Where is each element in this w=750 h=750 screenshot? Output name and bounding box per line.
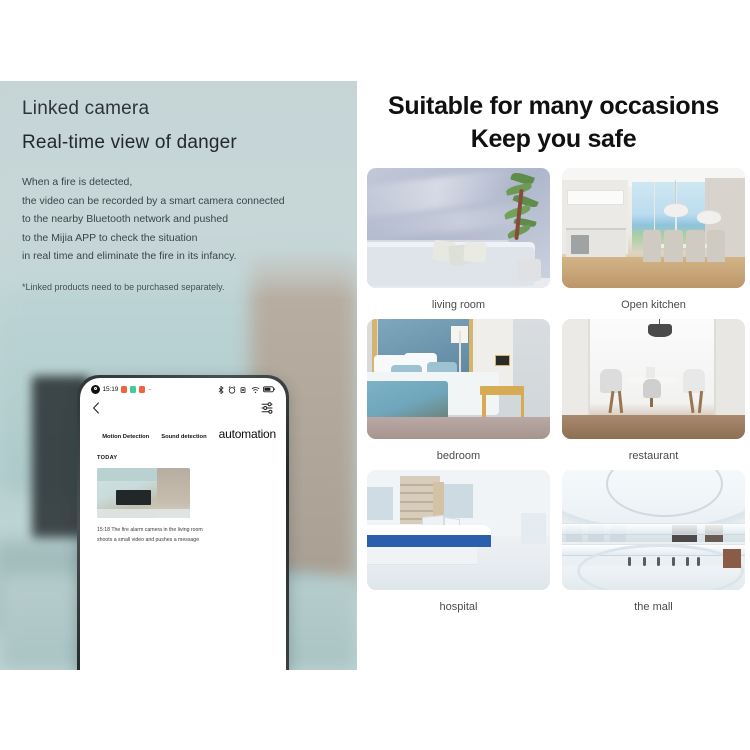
left-text-block: Linked camera Real-time view of danger W… xyxy=(0,81,357,292)
scene-image-open-kitchen xyxy=(562,168,745,288)
event-message: 15:18 The fire alarm camera in the livin… xyxy=(97,525,286,545)
phone-tabs: Motion Detection Sound detection automat… xyxy=(80,419,286,441)
left-title-line2: Real-time view of danger xyxy=(22,120,335,154)
scene-card-restaurant[interactable]: restaurant xyxy=(562,319,745,466)
body-line-4: to the Mijia APP to check the situation xyxy=(22,229,335,248)
page-root: Linked camera Real-time view of danger W… xyxy=(0,0,750,750)
scene-card-living-room[interactable]: living room xyxy=(367,168,550,315)
thumbnail-ceiling xyxy=(97,468,157,481)
status-bar-right xyxy=(218,386,275,394)
body-line-3: to the nearby Bluetooth network and push… xyxy=(22,210,335,229)
restaurant-illustration xyxy=(562,319,745,439)
app-chip-orange-icon xyxy=(139,386,146,393)
phone-nav-row xyxy=(80,394,286,419)
vibrate-icon xyxy=(239,386,247,394)
phone-status-bar: 15:19 - xyxy=(80,378,286,394)
scene-image-living-room xyxy=(367,168,550,288)
left-feature-panel: Linked camera Real-time view of danger W… xyxy=(0,81,357,670)
bedroom-illustration xyxy=(367,319,550,439)
headline-line1: Suitable for many occasions xyxy=(357,90,750,123)
thumbnail-tv xyxy=(116,490,151,505)
filter-list-icon[interactable] xyxy=(261,401,274,419)
scene-card-open-kitchen[interactable]: Open kitchen xyxy=(562,168,745,315)
wifi-icon xyxy=(251,386,260,394)
headline-line2: Keep you safe xyxy=(357,123,750,156)
app-chip-green-icon xyxy=(130,386,137,393)
scene-caption-living-room: living room xyxy=(432,295,485,315)
event-message-line-1: 15:18 The fire alarm camera in the livin… xyxy=(97,525,286,535)
right-scenes-panel: Suitable for many occasions Keep you saf… xyxy=(357,81,750,681)
section-label-today: TODAY xyxy=(80,441,286,461)
living-room-illustration xyxy=(367,168,550,288)
tab-sound-detection[interactable]: Sound detection xyxy=(161,434,206,440)
alarm-icon xyxy=(228,386,236,394)
phone-mockup: 15:19 - xyxy=(77,375,289,670)
left-body-copy: When a fire is detected, the video can b… xyxy=(22,154,335,266)
tab-automation[interactable]: automation xyxy=(219,427,276,441)
left-title-line1: Linked camera xyxy=(22,81,335,120)
scene-image-bedroom xyxy=(367,319,550,439)
scene-card-bedroom[interactable]: bedroom xyxy=(367,319,550,466)
body-line-1: When a fire is detected, xyxy=(22,173,335,192)
bluetooth-icon xyxy=(218,386,224,394)
battery-icon xyxy=(263,386,275,393)
chevron-left-icon[interactable] xyxy=(92,401,100,419)
app-chip-orange-icon xyxy=(121,386,128,393)
scene-image-mall xyxy=(562,470,745,590)
scene-card-mall[interactable]: the mall xyxy=(562,470,745,617)
body-line-2: the video can be recorded by a smart cam… xyxy=(22,192,335,211)
hospital-illustration xyxy=(367,470,550,590)
scene-card-hospital[interactable]: hospital xyxy=(367,470,550,617)
tab-motion-detection[interactable]: Motion Detection xyxy=(102,434,149,440)
scenes-grid: living room xyxy=(357,156,750,617)
event-message-line-2: shoots a small video and pushes a messag… xyxy=(97,535,286,545)
left-footnote: *Linked products need to be purchased se… xyxy=(22,266,335,292)
scene-caption-mall: the mall xyxy=(634,597,673,617)
scene-caption-hospital: hospital xyxy=(440,597,478,617)
scene-caption-open-kitchen: Open kitchen xyxy=(621,295,686,315)
body-line-5: in real time and eliminate the fire in i… xyxy=(22,247,335,266)
open-kitchen-illustration xyxy=(562,168,745,288)
scene-caption-bedroom: bedroom xyxy=(437,446,480,466)
scene-image-hospital xyxy=(367,470,550,590)
mall-illustration xyxy=(562,470,745,590)
scene-caption-restaurant: restaurant xyxy=(629,446,679,466)
phone-screen: 15:19 - xyxy=(80,378,286,670)
camera-punch-hole-icon xyxy=(91,385,100,394)
thumbnail-floor xyxy=(97,509,190,518)
event-thumbnail[interactable] xyxy=(97,468,190,518)
status-bar-left: 15:19 - xyxy=(91,385,151,394)
scene-image-restaurant xyxy=(562,319,745,439)
headline-block: Suitable for many occasions Keep you saf… xyxy=(357,81,750,156)
status-time: 15:19 xyxy=(103,386,119,393)
status-dash: - xyxy=(149,386,151,393)
